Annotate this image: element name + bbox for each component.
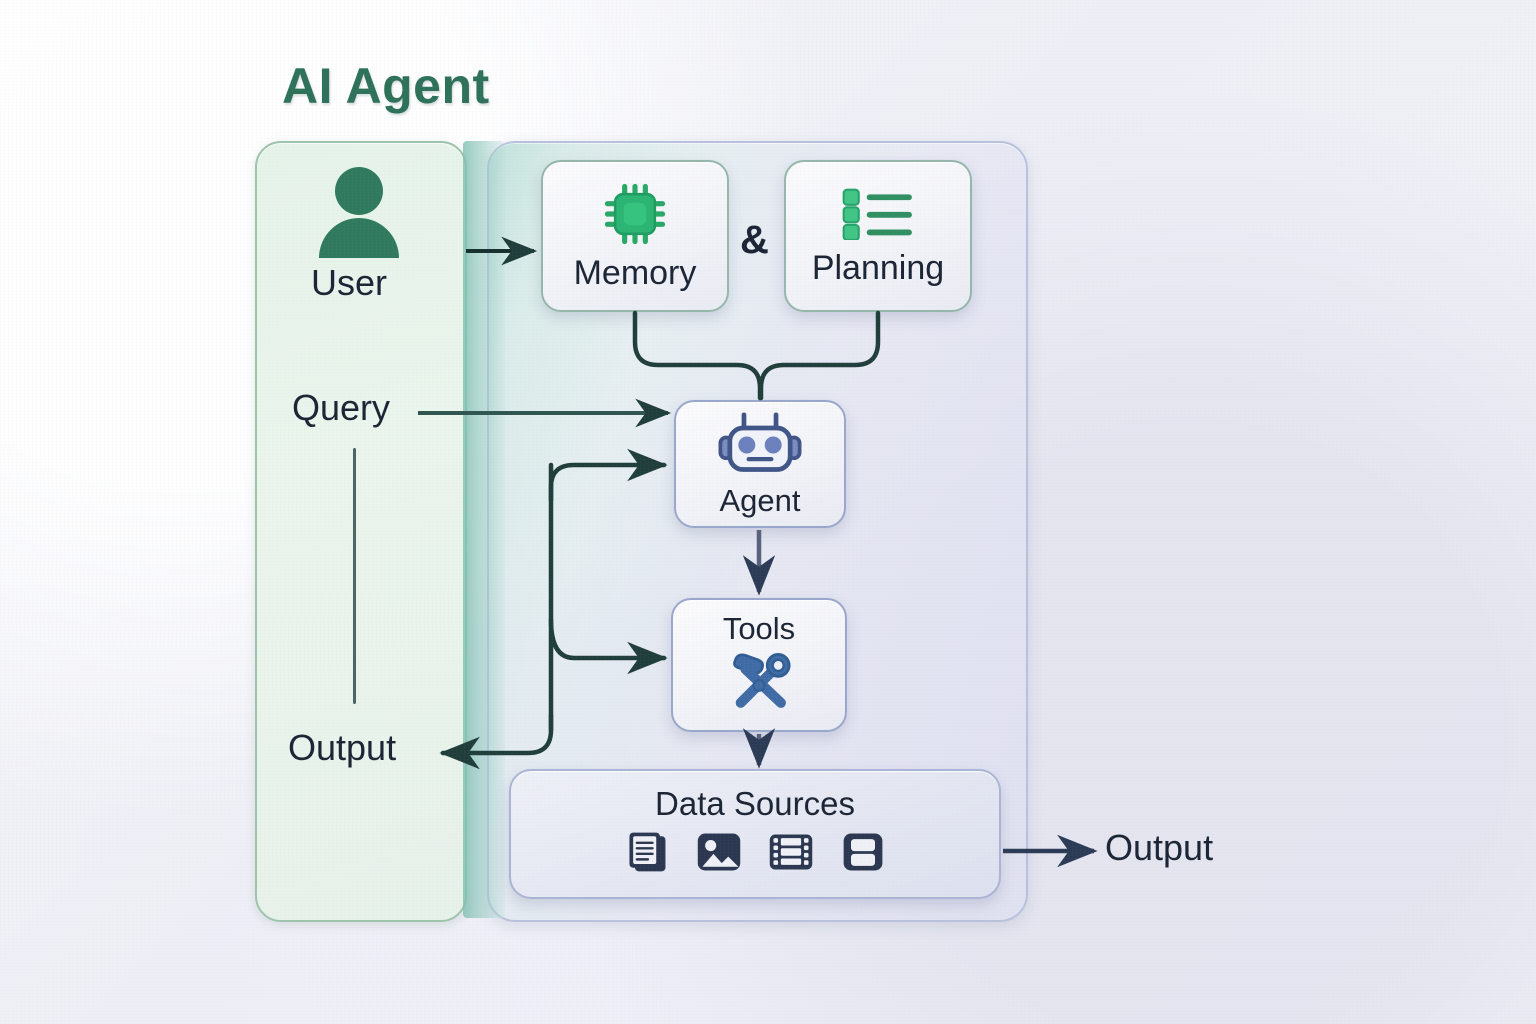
filmstrip-icon [767, 828, 815, 881]
data-sources-node[interactable]: Data Sources [509, 769, 1001, 899]
planning-label: Planning [812, 251, 944, 285]
user-label: User [311, 265, 387, 301]
data-sources-label: Data Sources [655, 787, 855, 820]
hammer-wrench-icon [723, 648, 795, 717]
output-left-label: Output [288, 730, 396, 766]
tools-label: Tools [723, 613, 795, 644]
robot-head-icon [713, 412, 807, 483]
output-right-label: Output [1105, 830, 1213, 866]
panel-overlap-band [463, 141, 505, 918]
image-icon [695, 828, 743, 881]
documents-icon [623, 828, 671, 881]
checklist-icon [842, 188, 914, 245]
agent-label: Agent [719, 485, 800, 516]
user-person-icon [312, 166, 406, 258]
tools-node[interactable]: Tools [671, 598, 847, 732]
user-panel [255, 141, 467, 922]
diagram-canvas: AI Agent User Query Output [0, 0, 1536, 1024]
page-title: AI Agent [282, 57, 490, 115]
planning-node[interactable]: Planning [784, 160, 972, 312]
query-label: Query [292, 390, 390, 426]
user-panel-divider [353, 448, 356, 704]
database-icon [839, 828, 887, 881]
memory-node[interactable]: Memory [541, 160, 729, 312]
conjunction-ampersand: & [740, 218, 769, 263]
memory-label: Memory [574, 256, 697, 290]
agent-node[interactable]: Agent [674, 400, 846, 528]
cpu-chip-icon [604, 183, 666, 250]
